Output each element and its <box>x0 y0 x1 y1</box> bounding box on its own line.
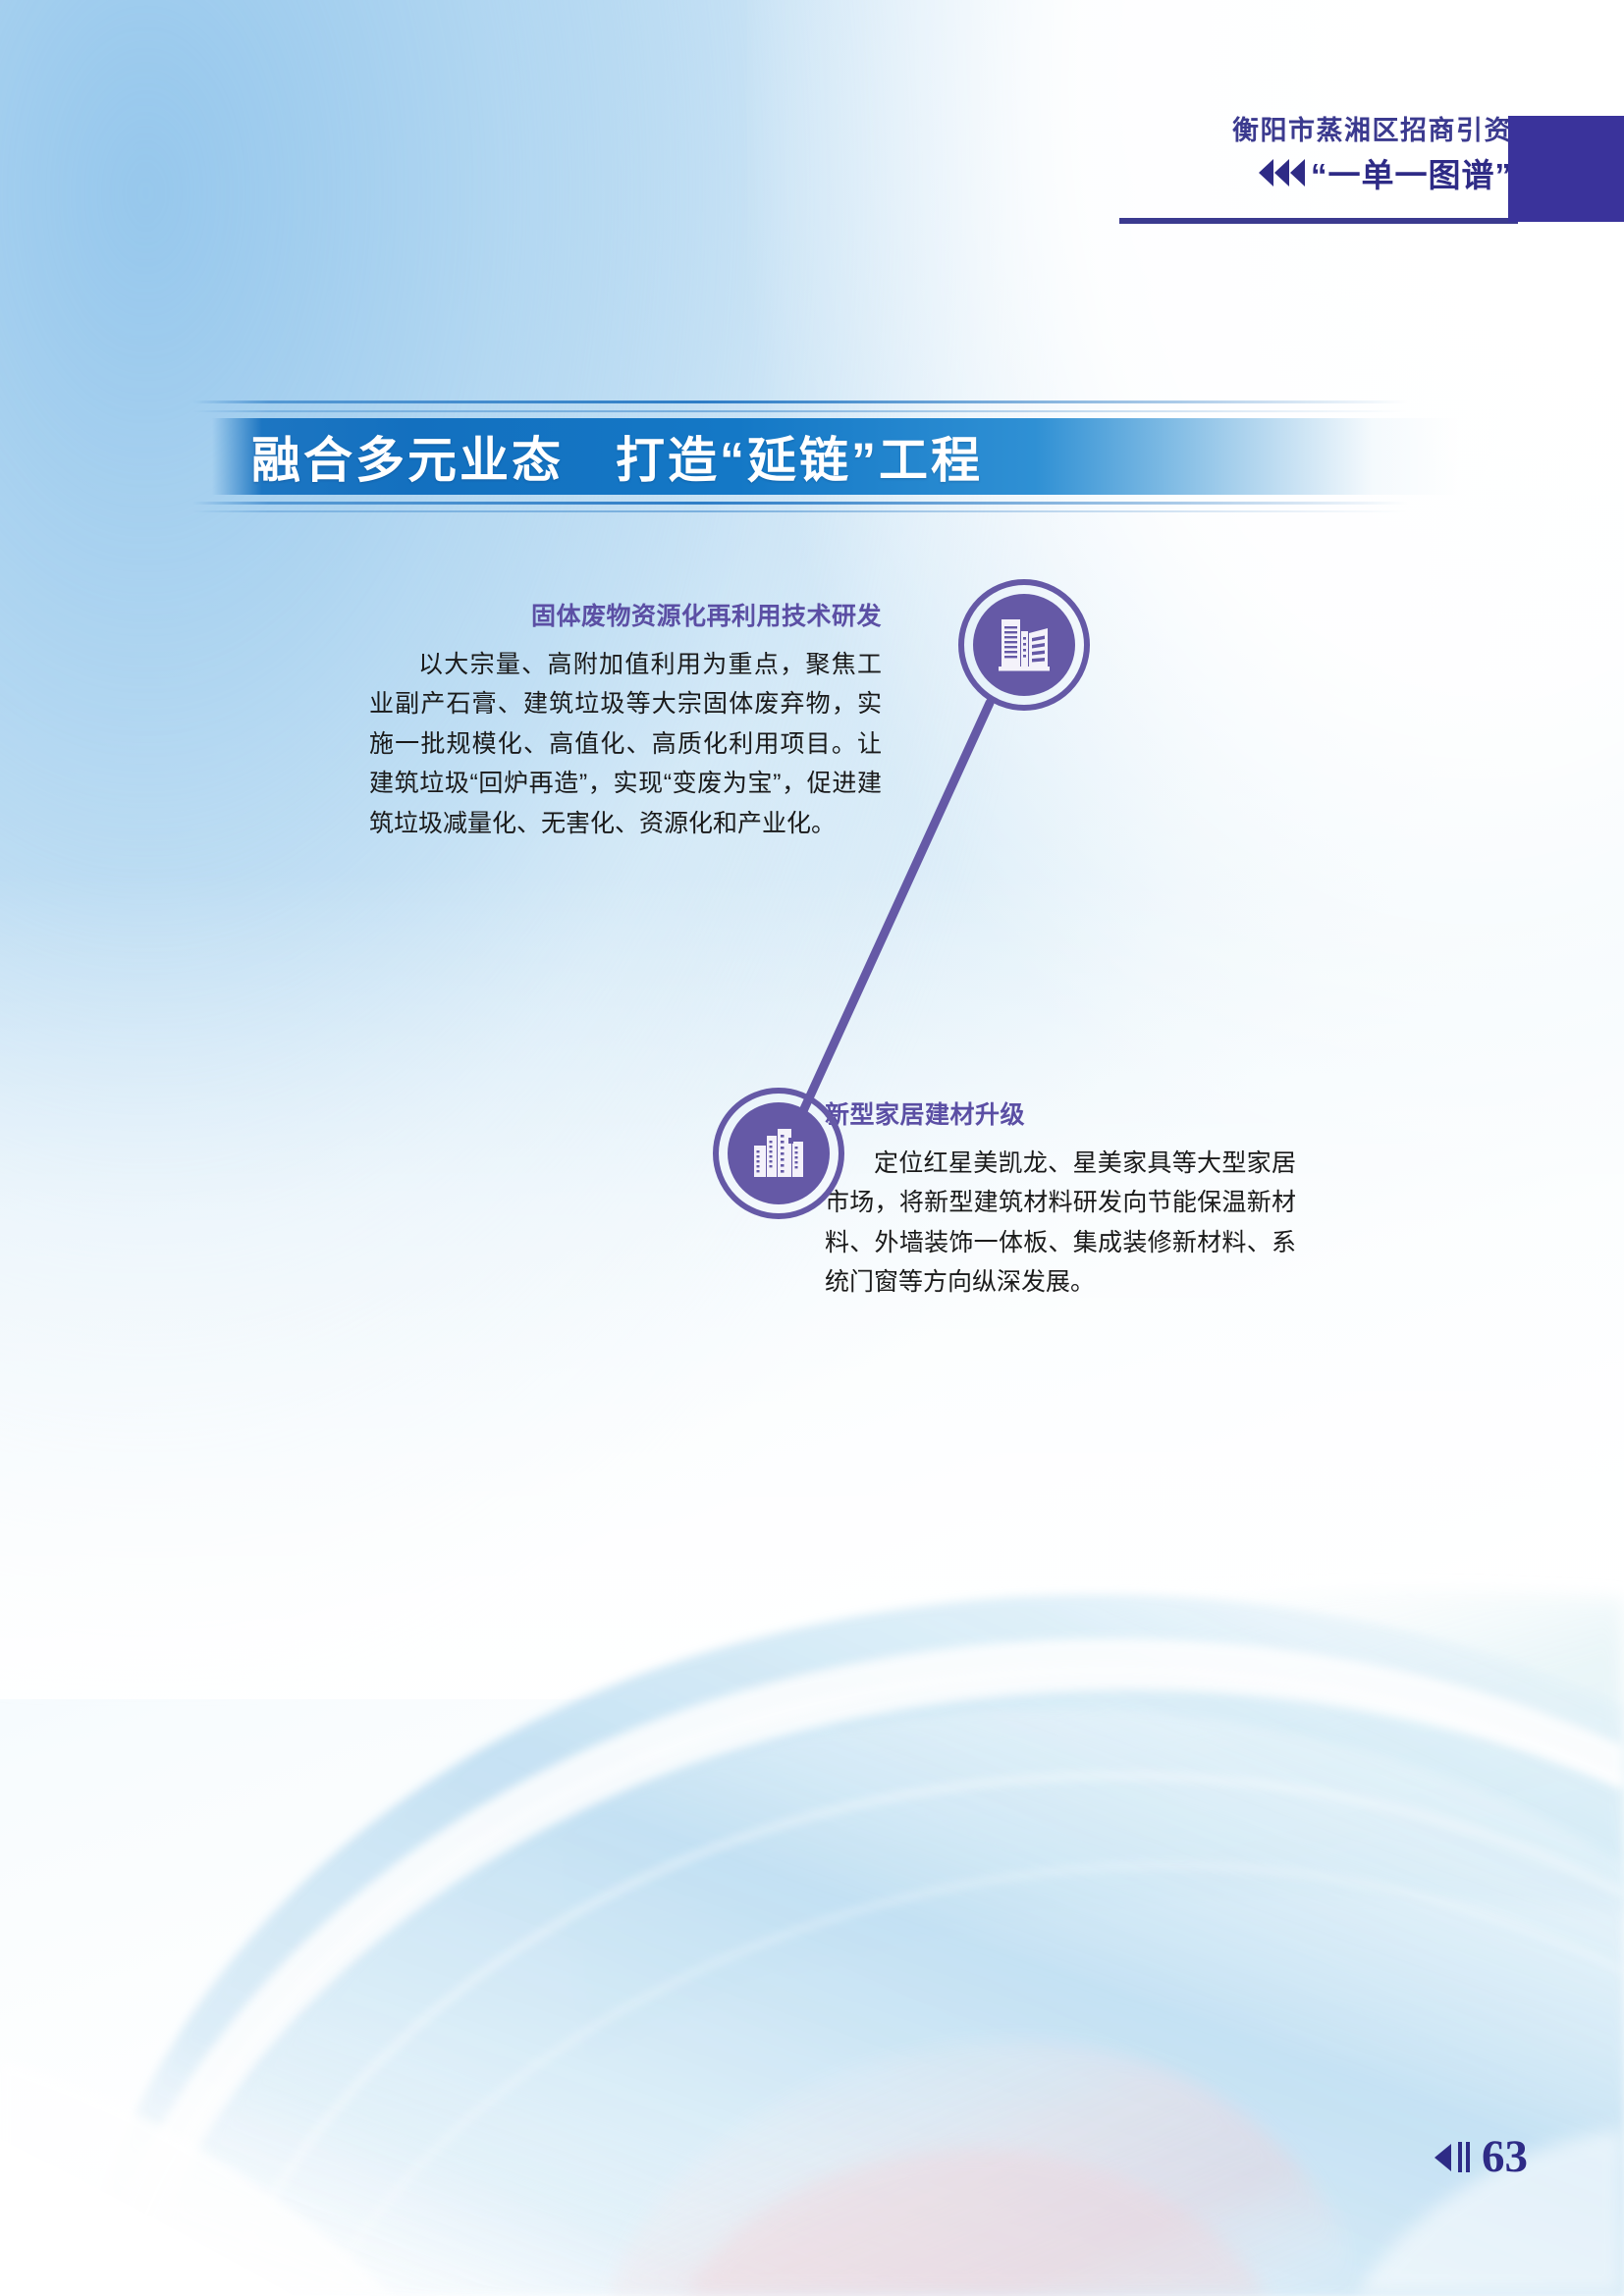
page-number-value: 63 <box>1482 2134 1528 2180</box>
section-heading-solid-waste: 固体废物资源化再利用技术研发 <box>369 601 882 633</box>
triangle-left-icon <box>1435 2144 1451 2171</box>
header-series-row: “一单一图谱” <box>1113 149 1526 196</box>
node-solid-waste <box>958 579 1090 711</box>
double-bar-icon <box>1458 2142 1470 2172</box>
node-ring <box>713 1088 844 1219</box>
section-body-home-materials: 定位红星美凯龙、星美家具等大型家居市场，将新型建筑材料研发向节能保温新材料、外墙… <box>825 1144 1296 1303</box>
section-heading-home-materials: 新型家居建材升级 <box>825 1099 1296 1132</box>
node-home-materials <box>713 1088 844 1219</box>
node-disc <box>728 1102 830 1204</box>
content-section-home-materials: 新型家居建材升级 定位红星美凯龙、星美家具等大型家居市场，将新型建筑材料研发向节… <box>825 1099 1296 1303</box>
banner-hairline-top-1 <box>192 400 1459 403</box>
header-organization: 衡阳市蒸湘区招商引资 <box>1113 116 1526 147</box>
page-number-footer: 63 <box>1435 2134 1528 2180</box>
background-mid-fade <box>0 873 1624 1699</box>
content-section-solid-waste: 固体废物资源化再利用技术研发 以大宗量、高附加值利用为重点，聚焦工业副产石膏、建… <box>369 601 882 843</box>
node-disc <box>973 594 1075 696</box>
office-buildings-icon <box>991 612 1057 678</box>
section-title-banner: 融合多元业态 打造“延链”工程 <box>192 397 1459 514</box>
header-rule-horizontal <box>1119 218 1512 224</box>
section-body-solid-waste: 以大宗量、高附加值利用为重点，聚焦工业副产石膏、建筑垃圾等大宗固体废弃物，实施一… <box>369 645 882 844</box>
header-accent-block <box>1508 116 1624 222</box>
banner-hairline-top-2 <box>192 410 1459 412</box>
banner-hairline-bottom-1 <box>192 502 1459 505</box>
banner-title-text: 融合多元业态 打造“延链”工程 <box>251 424 983 489</box>
city-skyline-icon <box>745 1120 812 1187</box>
page-header: 衡阳市蒸湘区招商引资 “一单一图谱” <box>1113 116 1526 196</box>
banner-hairline-bottom-2 <box>192 510 1459 512</box>
chevron-left-icon <box>1259 159 1305 187</box>
document-page: 衡阳市蒸湘区招商引资 “一单一图谱” 融合多元业态 打造“延链”工程 <box>0 0 1624 2296</box>
header-series-title: “一单一图谱” <box>1311 149 1512 196</box>
node-ring <box>958 579 1090 711</box>
